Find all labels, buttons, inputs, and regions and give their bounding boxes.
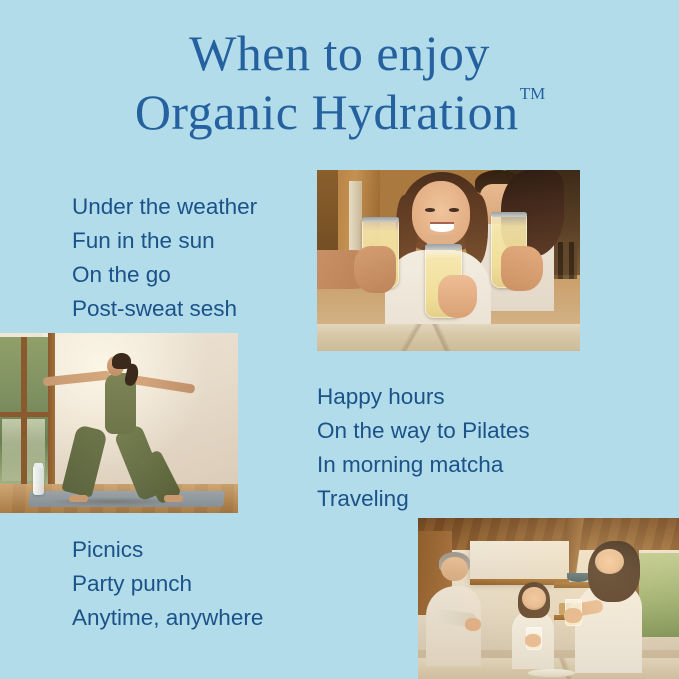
list-item: Traveling [317, 482, 530, 516]
occasion-list-two: Happy hours On the way to Pilates In mor… [317, 380, 530, 516]
list-item: Party punch [72, 567, 263, 601]
list-item: In morning matcha [317, 448, 530, 482]
right-hand [501, 246, 543, 291]
girl-eye-left [425, 208, 436, 212]
glass-rim-center [425, 244, 462, 249]
title-line-1: When to enjoy [0, 28, 679, 78]
window-frame-horizontal [0, 412, 50, 417]
left-hand [354, 246, 396, 293]
page-title: When to enjoy Organic HydrationTM [0, 28, 679, 137]
list-item: Picnics [72, 533, 263, 567]
list-item: Anytime, anywhere [72, 601, 263, 635]
water-bottle-cap [34, 463, 43, 468]
list-item: Under the weather [72, 190, 257, 224]
glass-rim-right [491, 212, 528, 217]
glass-rim-left [362, 217, 399, 222]
girl-eye-right [449, 208, 460, 212]
family-toast-scene [317, 170, 580, 351]
water-bottle [33, 466, 44, 495]
warm-light-overlay [418, 518, 679, 679]
photo-family-toast [317, 170, 580, 351]
window-frame-right [48, 333, 55, 499]
list-item: On the way to Pilates [317, 414, 530, 448]
list-item: Post-sweat sesh [72, 292, 257, 326]
yoga-scene [0, 333, 238, 513]
photo-kitchen [418, 518, 679, 679]
title-line-2: Organic HydrationTM [0, 87, 679, 137]
list-item: Happy hours [317, 380, 530, 414]
list-item: Fun in the sun [72, 224, 257, 258]
yogi-hair [112, 353, 131, 369]
occasion-list-one: Under the weather Fun in the sun On the … [72, 190, 257, 326]
title-line-2-text: Organic Hydration [135, 84, 519, 140]
trademark-symbol: TM [520, 84, 546, 103]
occasion-list-three: Picnics Party punch Anytime, anywhere [72, 533, 263, 635]
photo-yoga [0, 333, 238, 513]
kitchen-scene [418, 518, 679, 679]
list-item: On the go [72, 258, 257, 292]
yogi-foot-back [164, 495, 183, 502]
girl-smile [430, 222, 454, 231]
yogi-foot-front [69, 495, 88, 502]
girl-hand [438, 275, 477, 318]
poster-canvas: When to enjoy Organic HydrationTM Under … [0, 0, 679, 679]
counter-veining [317, 324, 580, 351]
